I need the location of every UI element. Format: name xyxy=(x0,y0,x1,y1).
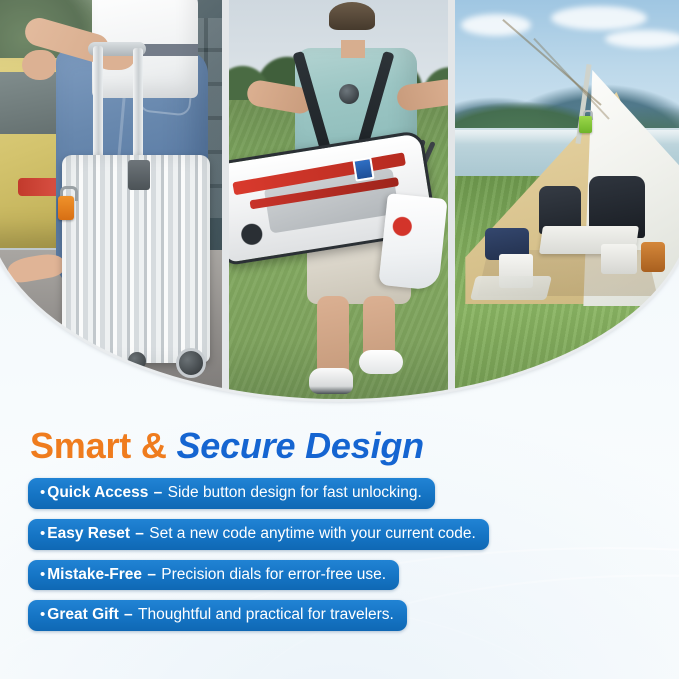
hero-panel-camping-tent xyxy=(455,0,679,400)
bag-strap-hub xyxy=(339,84,359,104)
cloud-2 xyxy=(551,6,647,30)
traveler-hand-left xyxy=(22,50,56,80)
tsa-lock-icon xyxy=(58,196,74,220)
feature-lead: Quick Access xyxy=(47,484,148,501)
golfer-hair xyxy=(329,2,375,30)
product-feature-graphic: Smart & Secure Design •Quick Access – Si… xyxy=(0,0,679,679)
cloud-1 xyxy=(461,14,531,36)
page-title: Smart & Secure Design xyxy=(0,398,679,464)
suitcase-wheel-front xyxy=(176,348,206,378)
list-item: •Easy Reset – Set a new code anytime wit… xyxy=(28,519,679,550)
suitcase-handle-bar-left xyxy=(93,46,103,161)
blue-luggage-tag-icon xyxy=(352,157,374,182)
feature-content: Smart & Secure Design •Quick Access – Si… xyxy=(0,398,679,641)
hero-panel-traveler-suitcase xyxy=(0,0,222,400)
feature-description: Thoughtful and practical for travelers. xyxy=(138,606,394,623)
suitcase-wheel-rear xyxy=(128,352,146,370)
feature-pill-easy-reset: •Easy Reset – Set a new code anytime wit… xyxy=(28,519,489,550)
bullet-dot-icon: • xyxy=(40,526,45,543)
camp-water-jug xyxy=(641,242,665,272)
list-item: •Mistake-Free – Precision dials for erro… xyxy=(28,560,679,591)
green-lock-tag-icon xyxy=(579,116,592,133)
golfer-shoe-right xyxy=(359,350,403,374)
camp-ground-mat xyxy=(470,276,552,300)
bullet-dot-icon: • xyxy=(40,607,45,624)
feature-description: Set a new code anytime with your current… xyxy=(149,525,476,542)
feature-dash: – xyxy=(119,606,138,623)
bullet-dot-icon: • xyxy=(40,485,45,502)
title-part-secure-design: Secure Design xyxy=(176,425,424,466)
golfer-shoe-left xyxy=(309,368,353,394)
feature-pill-mistake-free: •Mistake-Free – Precision dials for erro… xyxy=(28,560,399,591)
towel-logo-mark xyxy=(389,215,414,243)
list-item: •Quick Access – Side button design for f… xyxy=(28,478,679,509)
bag-brand-logo xyxy=(237,221,267,251)
feature-lead: Easy Reset xyxy=(47,525,130,542)
title-part-smart: Smart & xyxy=(30,425,176,466)
hero-curved-mask xyxy=(0,0,679,400)
list-item: •Great Gift – Thoughtful and practical f… xyxy=(28,600,679,631)
feature-dash: – xyxy=(130,525,149,542)
feature-description: Precision dials for error-free use. xyxy=(161,566,386,583)
bullet-dot-icon: • xyxy=(40,567,45,584)
feature-description: Side button design for fast unlocking. xyxy=(168,484,422,501)
feature-pill-quick-access: •Quick Access – Side button design for f… xyxy=(28,478,435,509)
suitcase-handle-bar-right xyxy=(133,48,143,160)
hero-panel-golfer-bag xyxy=(229,0,449,400)
feature-dash: – xyxy=(142,566,161,583)
feature-list: •Quick Access – Side button design for f… xyxy=(0,464,679,631)
feature-lead: Great Gift xyxy=(47,606,118,623)
feature-dash: – xyxy=(148,484,167,501)
hero-collage xyxy=(0,0,679,400)
feature-lead: Mistake-Free xyxy=(47,566,142,583)
camp-cooler xyxy=(601,244,637,274)
feature-pill-great-gift: •Great Gift – Thoughtful and practical f… xyxy=(28,600,407,631)
suitcase-badge xyxy=(128,160,150,190)
golf-towel xyxy=(378,193,447,291)
